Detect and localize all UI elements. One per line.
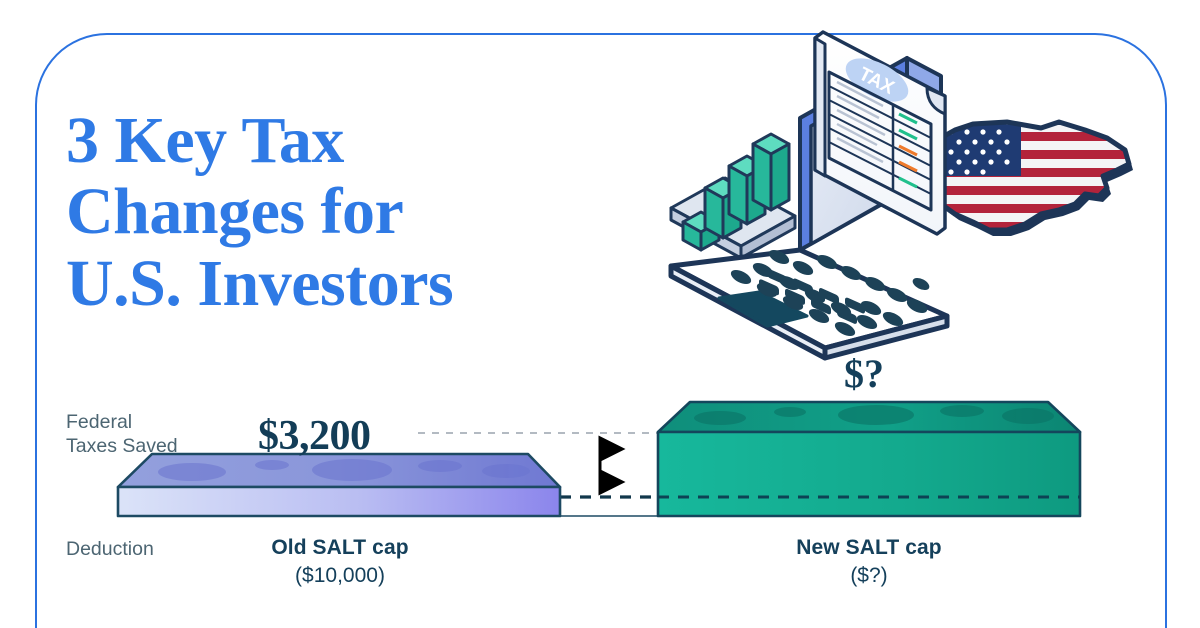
bar-old-salt-cap: [118, 454, 560, 516]
new-cap-caption-sub: ($?): [680, 564, 1058, 588]
old-cap-caption-sub: ($10,000): [155, 564, 525, 588]
new-cap-caption-title: New SALT cap: [680, 536, 1058, 560]
axis-label-federal-taxes-saved: Federal Taxes Saved: [66, 410, 178, 458]
old-cap-caption: Old SALT cap ($10,000): [155, 536, 525, 588]
bar-chart-icon: [671, 134, 795, 258]
infographic-canvas: 3 Key Tax Changes for U.S. Investors: [0, 0, 1200, 628]
bar-new-salt-cap: [658, 402, 1080, 516]
page-title: 3 Key Tax Changes for U.S. Investors: [66, 105, 626, 319]
old-cap-caption-title: Old SALT cap: [155, 536, 525, 560]
old-cap-value-label: $3,200: [258, 412, 371, 460]
tax-laptop-illustration: TAX: [655, 18, 1135, 363]
axis-label-deduction: Deduction: [66, 537, 154, 561]
new-cap-value-label: $?: [844, 350, 884, 397]
us-flag-map-icon: [915, 114, 1135, 238]
new-cap-caption: New SALT cap ($?): [680, 536, 1058, 588]
